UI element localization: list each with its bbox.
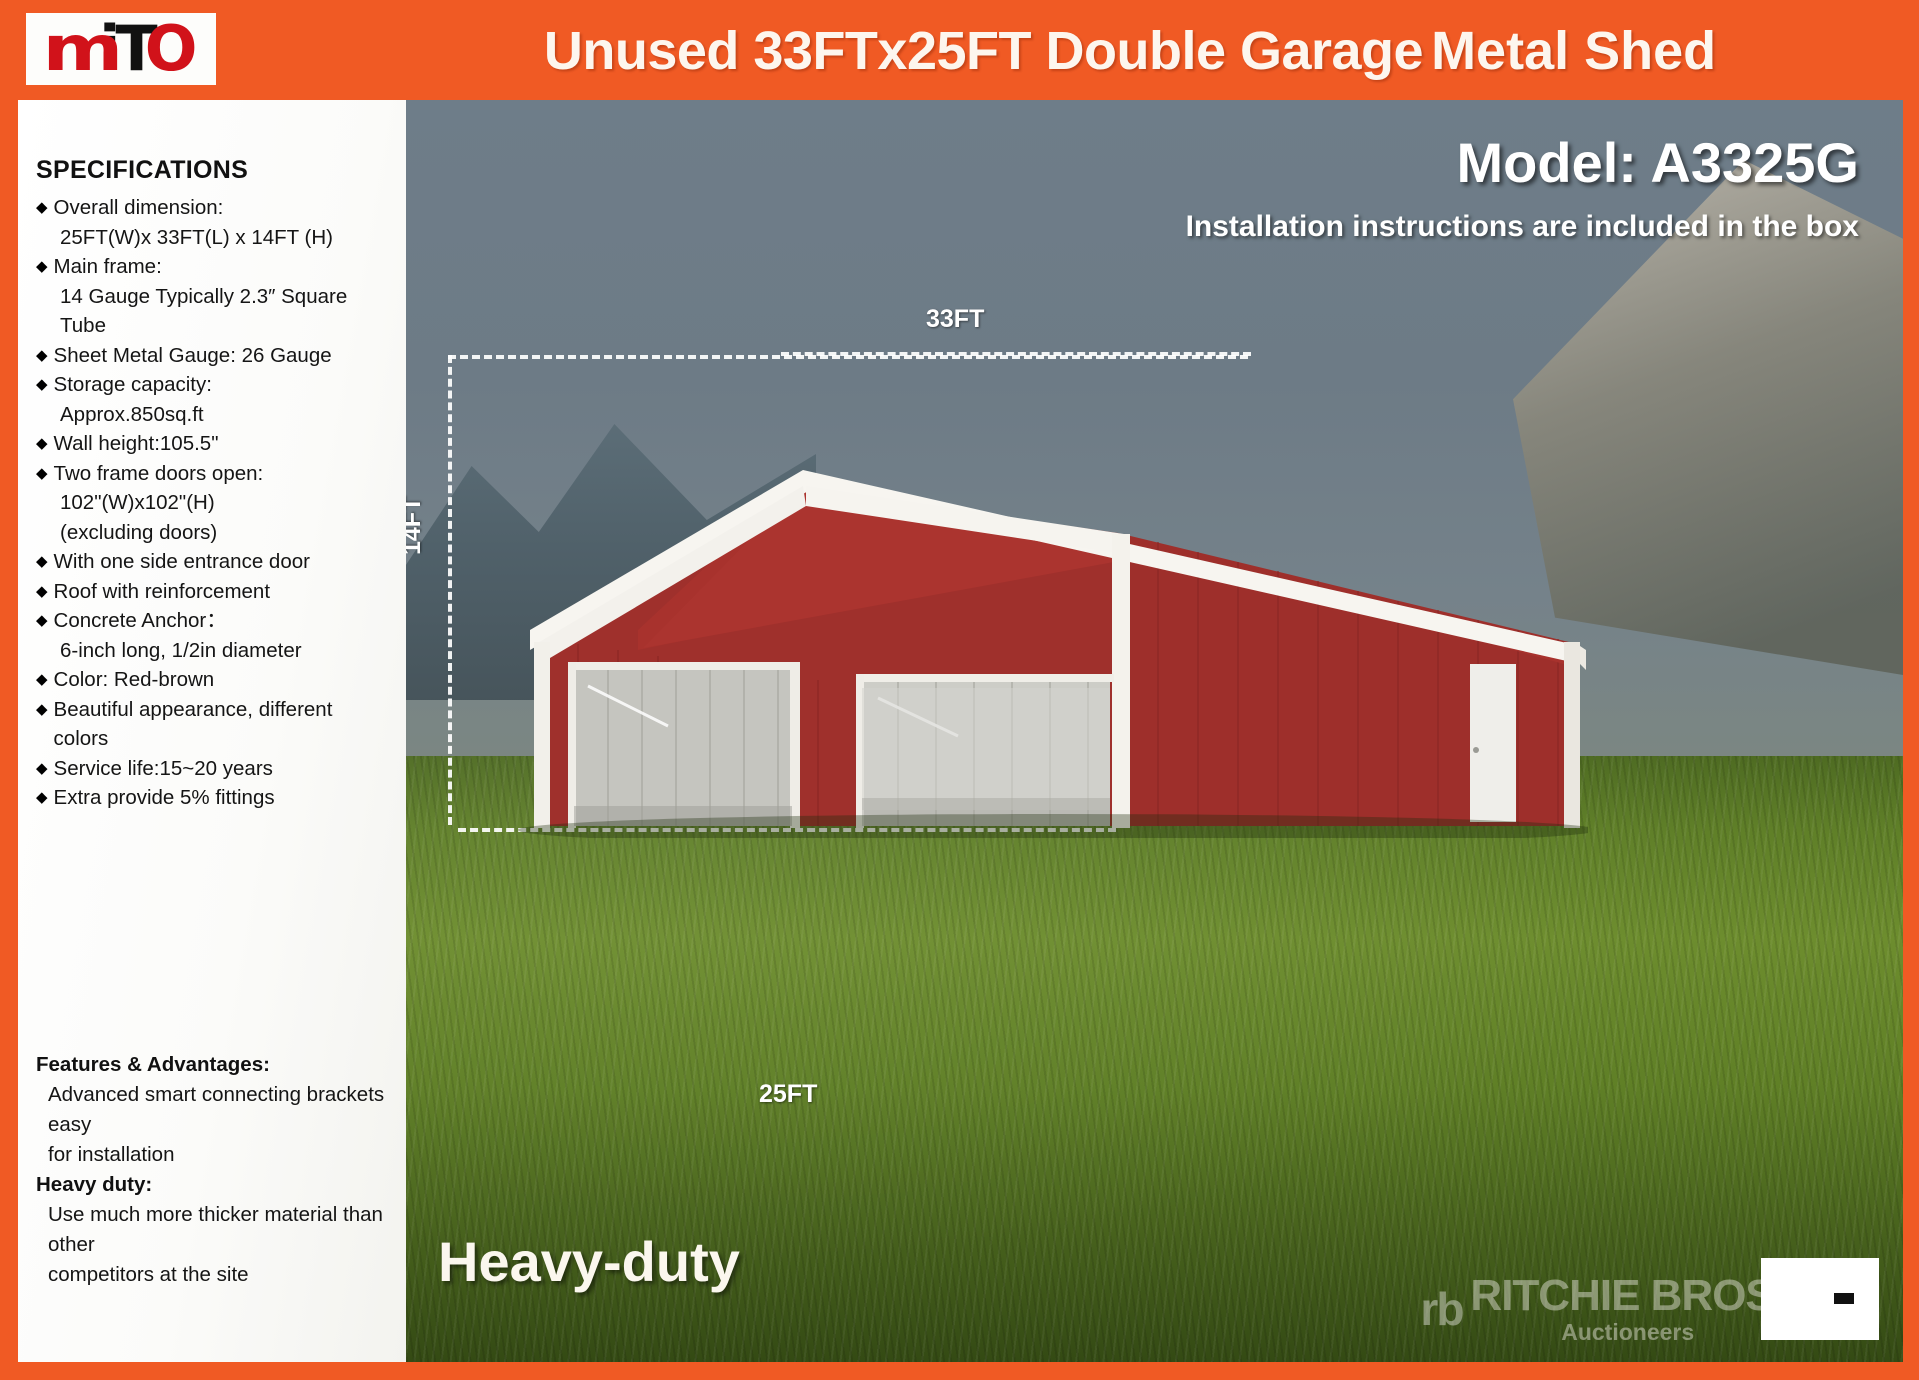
spec-item-label: Overall dimension:: [54, 193, 224, 223]
model-label: Model: A3325G: [1457, 130, 1859, 195]
diamond-bullet-icon: ◆: [36, 459, 48, 489]
diamond-bullet-icon: ◆: [36, 193, 48, 223]
dimension-label-length: 33FT: [926, 305, 984, 334]
spec-item-label: Roof with reinforcement: [54, 577, 270, 607]
spec-item: ◆Extra provide 5% fittings: [36, 783, 392, 813]
corner-trim-left: [534, 642, 550, 828]
watermark-main-text: RITCHIE BROS.: [1470, 1274, 1785, 1318]
spec-item-label: Wall height:105.5": [54, 429, 219, 459]
spec-item-label: Sheet Metal Gauge: 26 Gauge: [54, 341, 332, 371]
diamond-bullet-icon: ◆: [36, 754, 48, 784]
page-title-part1: Unused 33FTx25FT Double Garage: [544, 20, 1423, 82]
diamond-bullet-icon: ◆: [36, 695, 48, 725]
spec-item: ◆Roof with reinforcement: [36, 577, 392, 607]
door-handle-icon: [1473, 747, 1479, 753]
spec-item: ◆Color: Red-brown: [36, 665, 392, 695]
specifications-panel: SPECIFICATIONS ◆Overall dimension:25FT(W…: [18, 100, 406, 1362]
spec-item: ◆Storage capacity:: [36, 370, 392, 400]
brand-logo-text: miTO: [50, 18, 193, 80]
header-bar: miTO Unused 33FTx25FT Double GarageMetal…: [0, 0, 1919, 100]
product-info-sheet: miTO Unused 33FTx25FT Double GarageMetal…: [0, 0, 1919, 1380]
dimension-label-width: 25FT: [759, 1080, 817, 1109]
spec-item-label: Service life:15~20 years: [54, 754, 273, 784]
diamond-bullet-icon: ◆: [36, 341, 48, 371]
spec-item: ◆Two frame doors open:: [36, 459, 392, 489]
corner-trim-center: [1112, 534, 1130, 828]
features-advantages-section: Features & Advantages: Advanced smart co…: [36, 1050, 408, 1290]
spec-item-label: Main frame:: [54, 252, 162, 282]
diamond-bullet-icon: ◆: [36, 547, 48, 577]
logo-letter-o: O: [145, 18, 193, 80]
diamond-bullet-icon: ◆: [36, 370, 48, 400]
features-line-1a: Advanced smart connecting brackets easy: [36, 1080, 408, 1140]
installation-note: Installation instructions are included i…: [1186, 210, 1859, 244]
spec-item: ◆Main frame:: [36, 252, 392, 282]
dimension-line-height: [448, 355, 452, 825]
spec-item-detail: 102"(W)x102"(H): [36, 488, 392, 518]
diamond-bullet-icon: ◆: [36, 783, 48, 813]
roof-eave-trim-right: [1580, 646, 1586, 670]
heavy-duty-line-2b: competitors at the site: [36, 1260, 408, 1290]
corner-trim-right: [1564, 642, 1580, 828]
side-entrance-door: [1470, 664, 1516, 822]
heavy-duty-line-2a: Use much more thicker material than othe…: [36, 1200, 408, 1260]
rb-monogram: rb: [1420, 1282, 1462, 1336]
spec-item-label: With one side entrance door: [54, 547, 310, 577]
spec-item: ◆Beautiful appearance, different colors: [36, 695, 392, 754]
spec-item: ◆Wall height:105.5": [36, 429, 392, 459]
heavy-duty-heading: Heavy duty:: [36, 1170, 408, 1200]
dimension-line-length-top: [781, 352, 1251, 356]
page-title-part2: Metal Shed: [1431, 20, 1716, 82]
features-heading: Features & Advantages:: [36, 1050, 408, 1080]
diamond-bullet-icon: ◆: [36, 577, 48, 607]
ce-mark-badge: [1761, 1258, 1879, 1340]
spec-item-detail: 6-inch long, 1/2in diameter: [36, 636, 392, 666]
spec-item: ◆Sheet Metal Gauge: 26 Gauge: [36, 341, 392, 371]
spec-item-detail: Approx.850sq.ft: [36, 400, 392, 430]
diamond-bullet-icon: ◆: [36, 606, 48, 636]
spec-item: ◆Concrete Anchor：: [36, 606, 392, 636]
spec-item-label: Two frame doors open:: [54, 459, 264, 489]
product-photo: Model: A3325G Installation instructions …: [406, 100, 1903, 1362]
brand-logo: miTO: [26, 13, 216, 85]
diamond-bullet-icon: ◆: [36, 665, 48, 695]
spec-item-detail: 14 Gauge Typically 2.3″ Square Tube: [36, 282, 392, 341]
spec-item: ◆Service life:15~20 years: [36, 754, 392, 784]
spec-item-detail: (excluding doors): [36, 518, 392, 548]
ce-mark-icon: [1774, 1270, 1866, 1328]
spec-item-label: Color: Red-brown: [54, 665, 215, 695]
garage-illustration: [458, 358, 1588, 838]
specifications-list: ◆Overall dimension:25FT(W)x 33FT(L) x 14…: [36, 193, 392, 813]
spec-item-detail: 25FT(W)x 33FT(L) x 14FT (H): [36, 223, 392, 253]
features-line-1b: for installation: [36, 1140, 408, 1170]
ritchie-bros-watermark: rb RITCHIE BROS. Auctioneers: [1420, 1274, 1785, 1344]
dimension-label-height: 14FT: [406, 497, 427, 555]
spec-item-label: Concrete Anchor：: [54, 606, 227, 636]
spec-item-label: Beautiful appearance, different colors: [54, 695, 392, 754]
interior-back-wall: [862, 688, 1110, 810]
spec-item-label: Extra provide 5% fittings: [54, 783, 275, 813]
spec-item: ◆Overall dimension:: [36, 193, 392, 223]
specifications-heading: SPECIFICATIONS: [36, 156, 392, 185]
diamond-bullet-icon: ◆: [36, 252, 48, 282]
logo-letter-m: m: [42, 18, 117, 80]
page-title: Unused 33FTx25FT Double GarageMetal Shed: [350, 8, 1910, 94]
heavy-duty-caption: Heavy-duty: [438, 1229, 740, 1294]
spec-item-label: Storage capacity:: [54, 370, 212, 400]
watermark-sub-text: Auctioneers: [1470, 1321, 1785, 1344]
diamond-bullet-icon: ◆: [36, 429, 48, 459]
spec-item: ◆With one side entrance door: [36, 547, 392, 577]
